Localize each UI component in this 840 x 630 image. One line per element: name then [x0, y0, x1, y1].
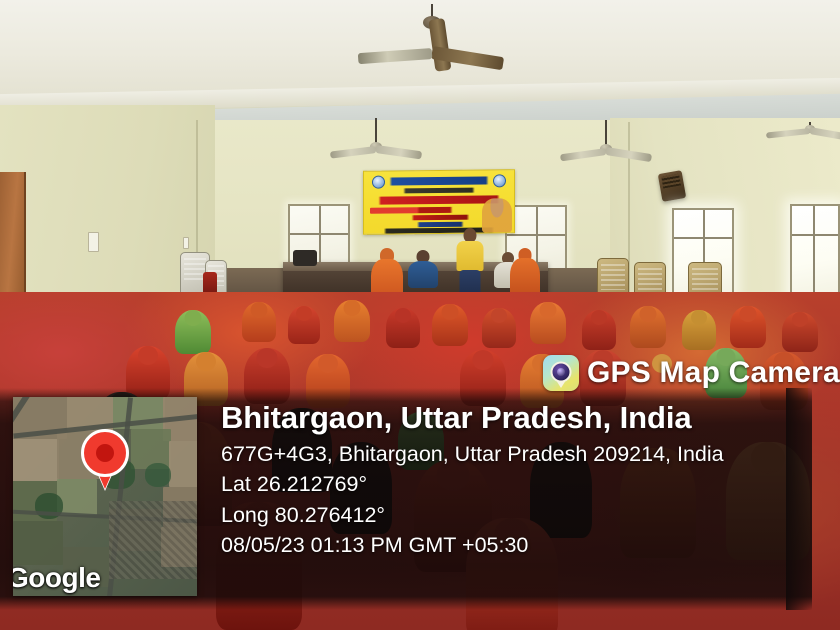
- gps-camera-pin-icon: [543, 355, 579, 391]
- banner-heading-text: [370, 176, 508, 185]
- audience-member: [288, 306, 320, 344]
- banner-portrait: [482, 198, 512, 232]
- audience-member: [334, 300, 370, 342]
- audience-member: [582, 310, 616, 350]
- map-thumbnail[interactable]: Google: [13, 397, 197, 596]
- audience-member: [482, 308, 516, 348]
- seated-official-blue: [408, 250, 438, 288]
- audience-member-green: [175, 310, 211, 354]
- location-latitude: Lat 26.212769°: [221, 469, 724, 500]
- audience-member: [630, 306, 666, 348]
- location-pin-icon: [81, 429, 129, 477]
- photograph: GPS Map Camera: [0, 0, 840, 630]
- standing-speaker-yellow: [455, 228, 485, 300]
- ceiling-fan-front: [372, 4, 492, 64]
- location-title: Bhitargaon, Uttar Pradesh, India: [221, 402, 724, 435]
- location-longitude: Long 80.276412°: [221, 500, 724, 531]
- audience-member: [530, 302, 566, 344]
- location-info-block: Bhitargaon, Uttar Pradesh, India 677G+4G…: [221, 402, 724, 561]
- audience-member: [432, 304, 468, 346]
- audience-member: [730, 306, 766, 348]
- wall-switch-left: [88, 232, 99, 252]
- ceiling-fan-far-right: [770, 122, 840, 164]
- audience-member: [682, 310, 716, 350]
- gps-map-camera-watermark: GPS Map Camera: [543, 355, 840, 391]
- stage-equipment-box: [293, 250, 317, 266]
- gps-app-name: GPS Map Camera: [587, 358, 840, 388]
- audience-member: [782, 312, 818, 352]
- google-watermark: Google: [13, 564, 100, 592]
- audience-member: [386, 308, 420, 348]
- ceiling-fan-mid-left: [330, 118, 422, 166]
- capture-timestamp: 08/05/23 01:13 PM GMT +05:30: [221, 530, 724, 561]
- audience-member: [242, 302, 276, 342]
- window-far-right: [790, 204, 840, 300]
- location-address: 677G+4G3, Bhitargaon, Uttar Pradesh 2092…: [221, 439, 724, 470]
- event-banner: [363, 169, 515, 235]
- ceiling-fan-mid-right: [560, 120, 652, 168]
- banner-subheading-text: [370, 187, 508, 193]
- wall-speaker: [658, 170, 686, 202]
- wall-switch-center: [183, 237, 189, 249]
